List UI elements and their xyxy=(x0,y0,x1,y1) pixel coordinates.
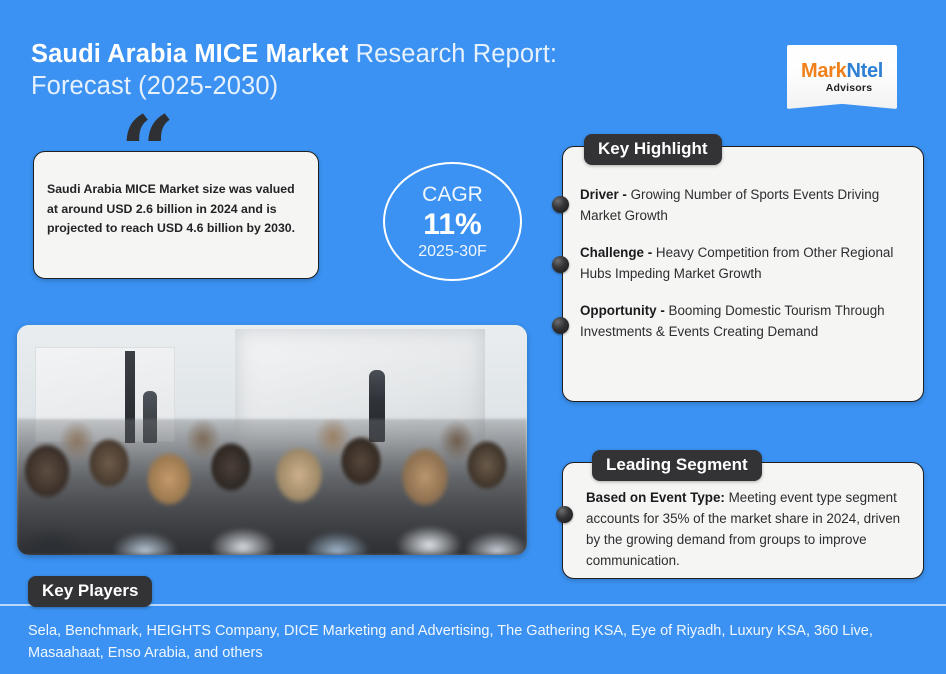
markntel-logo: MarkNtel Advisors xyxy=(787,45,897,109)
highlight-label: Opportunity - xyxy=(580,303,669,318)
logo-wordmark: MarkNtel xyxy=(801,61,883,81)
logo-ntel-text: Ntel xyxy=(846,60,883,82)
list-item: Driver - Growing Number of Sports Events… xyxy=(580,185,910,226)
key-players-list: Sela, Benchmark, HEIGHTS Company, DICE M… xyxy=(28,620,908,664)
conference-audience-photo xyxy=(17,325,527,555)
cagr-circle: CAGR 11% 2025-30F xyxy=(383,162,522,281)
logo-mark-text: Mark xyxy=(801,60,847,82)
market-size-quote-text: Saudi Arabia MICE Market size was valued… xyxy=(47,180,305,239)
highlight-label: Driver - xyxy=(580,187,631,202)
bullet-dot-icon xyxy=(552,317,569,334)
bullet-dot-icon xyxy=(552,196,569,213)
cagr-label: CAGR xyxy=(422,182,483,207)
cagr-value: 11% xyxy=(423,207,481,242)
list-item: Challenge - Heavy Competition from Other… xyxy=(580,243,910,284)
leading-segment-text: Based on Event Type: Meeting event type … xyxy=(586,487,916,571)
key-highlight-badge: Key Highlight xyxy=(584,134,722,165)
cagr-period: 2025-30F xyxy=(418,242,487,262)
highlight-label: Challenge - xyxy=(580,245,656,260)
title-line-1: Saudi Arabia MICE Market Research Report… xyxy=(31,38,631,70)
title-rest: Research Report: xyxy=(348,40,557,68)
bullet-dot-icon xyxy=(556,506,573,523)
photo-audience-seats xyxy=(17,485,527,555)
logo-subtitle: Advisors xyxy=(826,82,873,94)
key-players-badge: Key Players xyxy=(28,576,152,607)
leading-segment-label: Based on Event Type: xyxy=(586,490,729,505)
leading-segment-badge: Leading Segment xyxy=(592,450,762,481)
bullet-dot-icon xyxy=(552,256,569,273)
page-title: Saudi Arabia MICE Market Research Report… xyxy=(31,38,631,102)
key-highlight-list: Driver - Growing Number of Sports Events… xyxy=(580,185,910,359)
title-strong: Saudi Arabia MICE Market xyxy=(31,40,348,68)
list-item: Opportunity - Booming Domestic Tourism T… xyxy=(580,301,910,342)
quote-mark-icon: “ xyxy=(120,122,177,182)
